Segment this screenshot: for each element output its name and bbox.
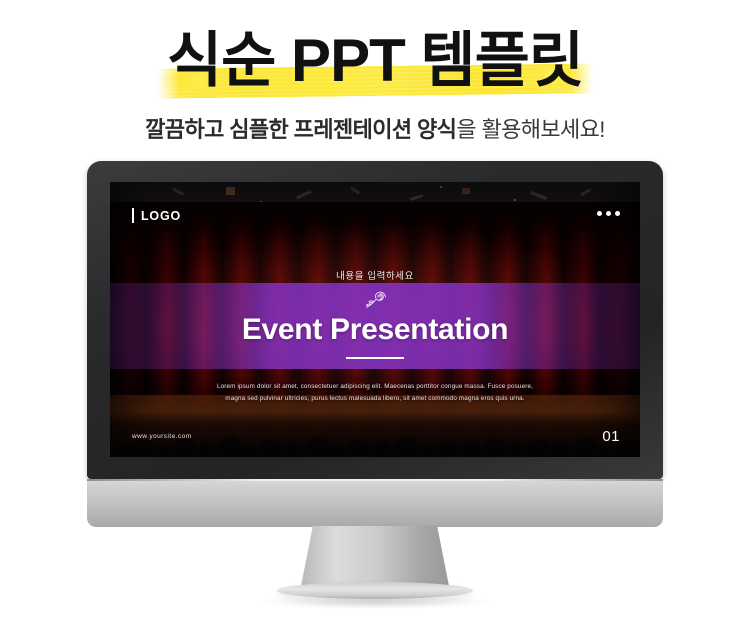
audience-head [372,441,391,457]
monitor-stand-neck [301,526,449,586]
slide-logo[interactable]: LOGO [132,208,181,223]
light-spark [440,186,442,188]
audience-head [600,445,615,457]
audience-head [156,445,170,457]
light-spark [514,199,516,201]
slide-kicker-text: 내용을 입력하세요 [110,268,640,282]
monitor-chin [87,479,663,527]
page-subtitle: 깔끔하고 심플한 프레젠테이션 양식을 활용해보세요! [0,112,750,144]
page-title: 식순 PPT 템플릿 [167,22,583,100]
audience-head [242,444,257,457]
subtitle-bold-part: 깔끔하고 심플한 프레젠테이션 양식 [145,117,456,142]
subtitle-light-part: 을 활용해보세요! [456,117,605,142]
monitor-mockup: LOGO 내용을 입력하세요 Event Presentation [87,161,663,618]
audience-head [348,439,370,457]
audience-head [284,442,302,457]
audience-head [134,440,154,457]
light-fixture-icon [226,187,235,195]
logo-bar-icon [132,208,134,223]
page-header: 식순 PPT 템플릿 깔끔하고 심플한 프레젠테이션 양식을 활용해보세요! [0,0,750,144]
slide-preview-screen[interactable]: LOGO 내용을 입력하세요 Event Presentation [110,182,640,457]
slide-page-number: 01 [602,428,620,445]
audience-head [574,437,599,457]
dot-1 [597,211,602,216]
logo-label: LOGO [141,209,181,223]
light-fixture-icon [410,194,423,201]
rose-icon [360,288,390,316]
audience-head [198,443,215,457]
audience-head [174,438,196,457]
audience-head [116,444,132,457]
audience-head [330,444,346,457]
dot-3 [615,211,620,216]
audience-head [438,440,459,457]
audience-head [420,445,435,457]
title-divider [346,357,404,359]
audience-head [528,439,550,457]
dot-2 [606,211,611,216]
audience-head [484,438,507,457]
light-fixture-icon [296,190,312,199]
slide-body-text: Lorem ipsum dolor sit amet, consectetuer… [216,381,534,405]
audience-head [306,437,330,457]
menu-dots-icon[interactable] [597,211,620,216]
monitor-drop-shadow [260,595,490,609]
light-fixture-icon [462,188,470,194]
audience-head [552,441,571,457]
title-block: 식순 PPT 템플릿 [149,22,601,100]
slide-title: Event Presentation [110,313,640,347]
audience-head [260,439,281,457]
monitor-bezel: LOGO 내용을 입력하세요 Event Presentation [87,161,663,479]
slide-website-url: www.yoursite.com [132,433,192,440]
light-fixture-icon [350,186,360,194]
audience-head [462,442,480,457]
light-fixture-icon [530,191,547,200]
audience-head [618,440,638,457]
light-fixture-icon [172,187,184,195]
light-fixture-icon [580,188,591,196]
audience-head [218,436,243,457]
audience-head [394,436,419,457]
audience-head [508,444,524,457]
